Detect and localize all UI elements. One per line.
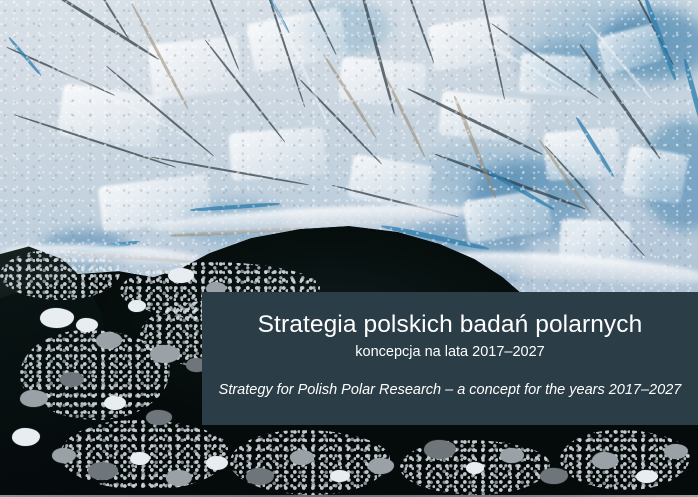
page-title: Strategia polskich badań polarnych: [216, 310, 684, 340]
english-subtitle: Strategy for Polish Polar Research – a c…: [216, 381, 684, 400]
subtitle: koncepcja na lata 2017–2027: [216, 343, 684, 362]
title-panel: Strategia polskich badań polarnych konce…: [202, 292, 698, 425]
book-cover: Strategia polskich badań polarnych konce…: [0, 0, 698, 497]
